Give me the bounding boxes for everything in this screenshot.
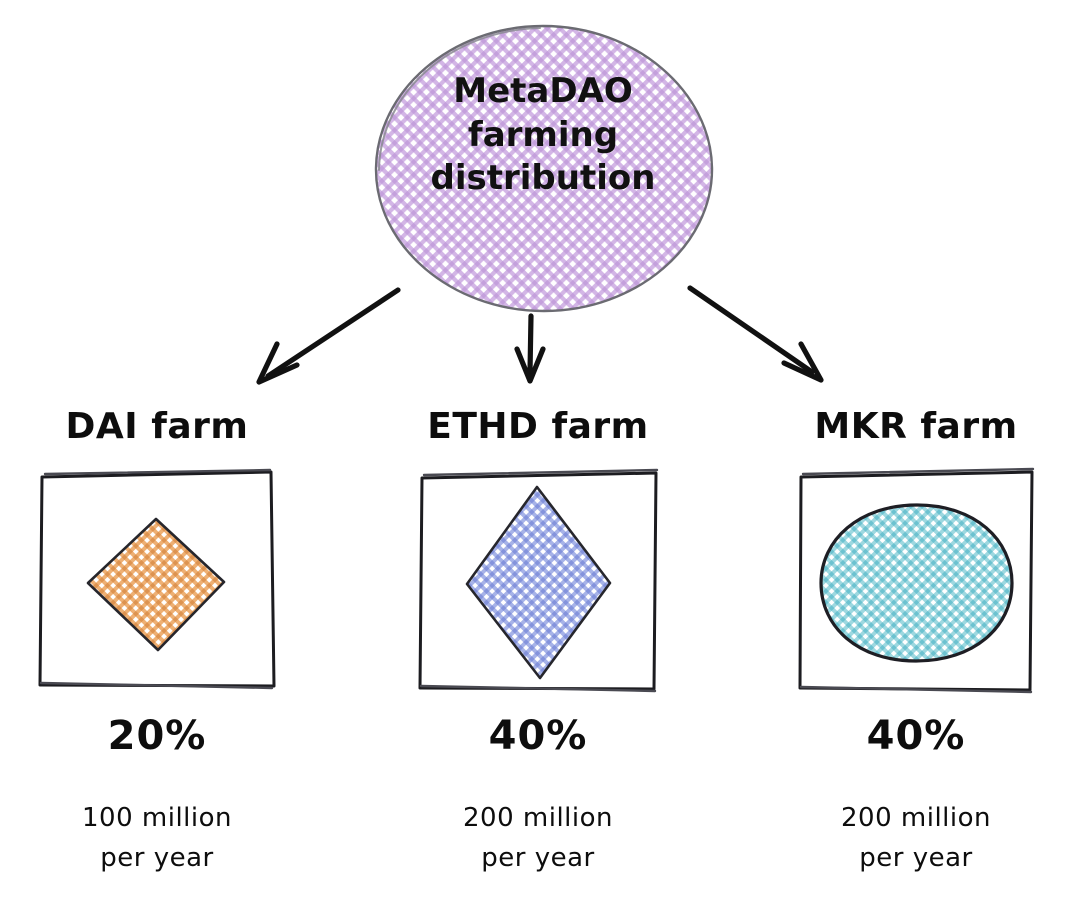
hub-label-line-3: distribution [375, 157, 711, 201]
dai-farm-title: DAI farm [7, 406, 307, 447]
dai-farm-percent: 20% [7, 713, 307, 759]
hub-label-line-1: MetaDAO [375, 70, 711, 114]
mkr-farm-shape-circle [821, 505, 1012, 661]
diagram-canvas: MetaDAO farming distribution DAI farm 20… [0, 0, 1080, 923]
arrow-to-dai [259, 290, 398, 382]
ethd-farm-percent: 40% [388, 713, 688, 759]
ethd-farm-amount: 200 million [388, 798, 688, 838]
dai-farm-period: per year [7, 838, 307, 878]
ethd-farm-title: ETHD farm [388, 406, 688, 447]
arrow-to-ethd [517, 316, 543, 381]
arrow-to-mkr [690, 288, 821, 380]
ethd-farm-period: per year [388, 838, 688, 878]
hub-label: MetaDAO farming distribution [375, 70, 711, 201]
mkr-farm-title: MKR farm [766, 406, 1066, 447]
mkr-farm-period: per year [766, 838, 1066, 878]
mkr-farm-amount: 200 million [766, 798, 1066, 838]
mkr-farm-percent: 40% [766, 713, 1066, 759]
dai-farm-amount: 100 million [7, 798, 307, 838]
hub-label-line-2: farming [375, 114, 711, 158]
